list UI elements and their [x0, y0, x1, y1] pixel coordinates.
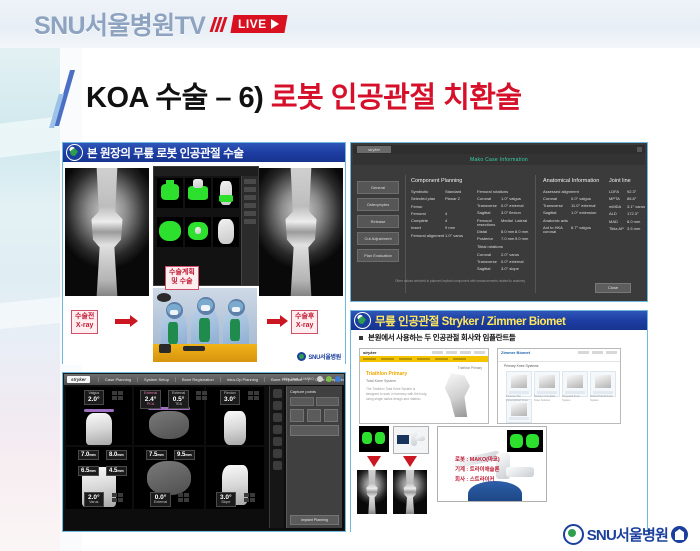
hospital-logo-icon-2 — [354, 312, 371, 329]
tab-bone-registration[interactable]: Bone Registration — [175, 377, 220, 382]
arrow-postop-body — [267, 319, 281, 324]
tibial-rotations-heading: Tibial rotations — [477, 245, 503, 249]
tab-system-setup[interactable]: System Setup — [137, 377, 175, 382]
joint-line-heading: Joint line — [609, 179, 645, 185]
planning-view-2 — [185, 178, 211, 208]
thickness-tibia-lateral: 9.5mm — [174, 450, 195, 460]
layers-icon[interactable] — [273, 437, 282, 446]
zimmer-thumb-label-3: Vanguard Knee System — [562, 395, 586, 403]
caption-robot: 로봇 : MAKO(마코) — [455, 456, 500, 464]
mako-nav-osteophytes[interactable]: Osteophytes — [357, 198, 399, 211]
measure-external-stepper[interactable] — [196, 391, 207, 400]
arrow-down-1 — [367, 456, 381, 467]
thickness-posterior-medial: 6.5mm — [78, 466, 99, 476]
arrow-postop-head — [280, 315, 288, 327]
measure-external-tea[interactable]: External 0.5° TEA — [168, 390, 189, 409]
mako-window-title: Mako Case Information — [470, 157, 528, 163]
tool-square-3[interactable] — [324, 409, 338, 422]
page-title: KOA 수술 – 6) 로봇 인공관절 치환술 — [86, 74, 522, 116]
zimmer-thumb-vanguard[interactable] — [562, 371, 588, 397]
rotate-icon[interactable] — [273, 425, 282, 434]
measure-external-bottom[interactable]: 0.0° External — [150, 492, 171, 507]
panel-surgery-photos: 본 원장의 무릎 로봇 인공관절 수술 — [62, 142, 346, 364]
broadcast-header: SNU서울병원TV LIVE — [0, 0, 700, 48]
live-badge: LIVE — [231, 15, 288, 33]
contrast-icon[interactable] — [273, 401, 282, 410]
anatomical-information-column: Anatomical Information Assessed alignmen… — [543, 179, 605, 237]
patient-status-text: Mrs Jane. A MAKO — [284, 377, 314, 381]
capture-button[interactable] — [316, 397, 340, 406]
zimmer-section-heading: Primary Knee Systems — [504, 364, 538, 369]
caption-company: 회사 : 스트라이커 — [455, 476, 495, 484]
thickness-distal-lateral: 8.0mm — [106, 450, 127, 460]
rotations-column: . Femoral rotations Coronal1.0° valgus T… — [477, 179, 533, 274]
panel-d-banner-label: 무릎 인공관절 Stryker / Zimmer Biomet — [375, 313, 565, 329]
stryker-logo: stryker — [357, 146, 391, 153]
footer-logo-text: SNU서울병원 — [587, 524, 668, 545]
measure-varus-stepper[interactable] — [112, 493, 123, 502]
femoral-rotations-heading: Femoral rotations — [477, 190, 508, 194]
planning-view-4 — [157, 217, 183, 247]
joint-line-column: Joint line LDFA92.3° MPTA86.8° mMDA3.1° … — [609, 179, 645, 234]
capture-points-heading: Capture points — [290, 389, 339, 394]
planning-side-tools[interactable] — [241, 176, 258, 285]
tab-case-planning[interactable]: Case Planning — [98, 377, 137, 382]
panel-a-body: 수술전 X-ray 수술후 X-ray 수술계획 및 수술 SNU서울병원 — [63, 162, 345, 365]
anatomical-information-heading: Anatomical Information — [543, 179, 605, 185]
settings-icon[interactable] — [335, 376, 341, 382]
zimmer-subnav[interactable] — [498, 356, 620, 362]
stryker-product-heading: Triathlon Primary — [366, 371, 407, 377]
measure-flexion[interactable]: Flexion 3.0° — [220, 390, 240, 405]
zimmer-thumb-nexgen[interactable] — [534, 371, 560, 397]
footer-hospital-logo: SNU서울병원 — [563, 524, 688, 545]
zimmer-thumb-label-4: Oxford Partial Knee System — [590, 395, 614, 403]
label-surgical-plan: 수술계획 및 수술 — [165, 266, 199, 290]
robot-thumbnail-1 — [393, 426, 429, 454]
stryker-yellow-nav[interactable] — [360, 356, 488, 362]
tool-squares[interactable] — [290, 409, 339, 422]
play-triangle-icon — [271, 19, 279, 29]
implant-planning-button[interactable]: Implant Planning — [290, 515, 339, 525]
logo-circle-icon — [563, 524, 584, 545]
planning-view-6 — [213, 217, 239, 247]
zimmer-site-nav[interactable] — [578, 351, 617, 354]
triathlon-implant-image — [440, 373, 474, 417]
result-xray-2 — [393, 470, 427, 514]
planning-view-1 — [157, 178, 183, 208]
stryker-status-group: Mrs Jane. A MAKO — [284, 376, 341, 382]
arrow-preop-body — [115, 319, 131, 324]
page-title-black: KOA 수술 – 6) — [86, 82, 271, 114]
divider-1 — [405, 175, 406, 293]
implant-icon[interactable] — [273, 449, 282, 458]
thickness-tibia-medial: 7.5mm — [146, 450, 167, 460]
bullet-icon — [359, 336, 363, 340]
zimmer-website-screenshot: Zimmer Biomet Primary Knee Systems Perso… — [497, 348, 621, 424]
measure-valgus-stepper[interactable] — [112, 391, 123, 400]
panel-mako-case-information: stryker Mako Case Information General Os… — [350, 142, 648, 302]
planning-view-5 — [185, 217, 211, 247]
component-planning-heading: Component Planning — [411, 179, 471, 185]
page-title-red: 로봇 인공관절 치환술 — [271, 82, 522, 114]
stryker-logo: stryker — [67, 376, 90, 383]
chart-icon[interactable] — [273, 461, 282, 470]
header-brand-group: SNU서울병원TV LIVE — [34, 6, 286, 42]
stryker-toolbar: stryker Case Planning System Setup Bone … — [64, 374, 344, 385]
stryker-site-nav[interactable] — [432, 351, 485, 354]
pan-icon[interactable] — [273, 413, 282, 422]
panel-a-watermark: SNU서울병원 — [297, 352, 341, 361]
mako-nav-cut-adjustment[interactable]: Cut Adjustment — [357, 232, 399, 245]
panel-a-banner-label: 본 원장의 무릎 로봇 인공관절 수술 — [87, 145, 244, 161]
stryker-side-panel: Capture points Implant Planning — [286, 386, 342, 528]
tab-intra-op-planning[interactable]: Intra-Op Planning — [220, 377, 264, 382]
measure-flexion-stepper[interactable] — [248, 391, 259, 400]
stryker-tool-rail[interactable] — [269, 386, 284, 528]
capture-row[interactable] — [290, 397, 339, 406]
mako-close-button[interactable]: Close — [595, 283, 631, 293]
mako-nav-release[interactable]: Release — [357, 215, 399, 228]
result-xray-1 — [357, 470, 387, 514]
zimmer-site-logo: Zimmer Biomet — [501, 350, 530, 355]
measure-slope-stepper[interactable] — [244, 493, 255, 502]
zimmer-thumb-label-2: NexGen Complete Knee Solution — [534, 395, 558, 403]
navigation-screen-right — [507, 430, 543, 452]
preop-xray-image — [65, 168, 149, 296]
mako-dialog: stryker Mako Case Information General Os… — [353, 145, 645, 299]
mako-titlebar: stryker — [353, 145, 645, 154]
mako-nav-general[interactable]: General — [357, 181, 399, 194]
watermark-label: SNU서울병원 — [308, 352, 341, 361]
zimmer-thumb-persona[interactable] — [506, 371, 532, 397]
panel-a-banner: 본 원장의 무릎 로봇 인공관절 수술 — [63, 143, 345, 162]
label-preop-xray: 수술전 X-ray — [71, 310, 98, 334]
label-postop-xray: 수술후 X-ray — [291, 310, 318, 334]
panel-stryker-navigation: stryker Case Planning System Setup Bone … — [62, 372, 346, 532]
zimmer-thumb-oxford[interactable] — [590, 371, 616, 397]
panel-d-subtitle: 본원에서 사용하는 두 인공관절 회사와 임플란트들 — [368, 332, 516, 343]
femoral-resections-heading: Femoral resections — [477, 219, 501, 227]
stryker-product-sub: Total Knee System — [366, 379, 396, 384]
slide-title-row: KOA 수술 – 6) 로봇 인공관절 치환술 — [58, 72, 678, 124]
stryker-website-screenshot: stryker Triathlon Primary Total Knee Sys… — [359, 348, 489, 424]
tool-square-1[interactable] — [290, 409, 304, 422]
tool-square-2[interactable] — [307, 409, 321, 422]
operating-room-photo — [153, 288, 257, 362]
planning-toolbar — [154, 167, 258, 176]
measure-valgus[interactable]: Valgus 2.0° — [84, 390, 104, 405]
thickness-distal-medial: 7.0mm — [78, 450, 99, 460]
logo-shield-icon — [671, 526, 688, 543]
planning-view-3 — [213, 178, 239, 208]
panel-d-body: 본원에서 사용하는 두 인공관절 회사와 임플란트들 stryker Triat… — [351, 330, 647, 533]
stryker-site-logo: stryker — [363, 350, 376, 355]
slash-decoration-icon — [210, 17, 228, 32]
stryker-product-body: The Triathlon Total Knee System is desig… — [366, 387, 428, 401]
panel-d-banner: 무릎 인공관절 Stryker / Zimmer Biomet — [351, 311, 647, 330]
measure-external-bottom-stepper[interactable] — [178, 493, 189, 502]
panel-implant-companies: 무릎 인공관절 Stryker / Zimmer Biomet 본원에서 사용하… — [350, 310, 648, 532]
channel-title: SNU서울병원TV — [34, 6, 205, 42]
mako-nav-plan-evaluation[interactable]: Plan Evaluation — [357, 249, 399, 262]
mako-disclaimer: Other values selected in planned implant… — [395, 279, 525, 283]
zimmer-thumb-label-1: Persona The Personalized Knee — [506, 395, 530, 403]
watermark-logo-icon — [297, 352, 306, 361]
presentation-slide: SNU서울병원TV LIVE KOA 수술 – 6) 로봇 인공관절 치환술 본… — [0, 0, 700, 551]
femur-select[interactable] — [290, 397, 314, 406]
stryker-app: stryker Case Planning System Setup Bone … — [64, 374, 344, 530]
arrow-preop-head — [130, 315, 138, 327]
measure-external-pca[interactable]: External 2.4° PCA — [140, 390, 161, 409]
navigation-screen-left — [359, 426, 389, 452]
stryker-breadcrumb: Triathlon Primary — [458, 366, 482, 371]
tracker-ok-icon — [326, 376, 332, 382]
caption-machine: 기계 : 트라이애슬론 — [455, 466, 499, 474]
measure-slope[interactable]: 3.0° Slope — [216, 492, 236, 507]
component-planning-column: Component Planning SymbioticStandard Sel… — [411, 179, 471, 241]
thickness-posterior-lateral: 4.5mm — [106, 466, 127, 476]
postop-xray-image — [259, 168, 343, 296]
live-label: LIVE — [238, 17, 267, 31]
zoom-icon[interactable] — [273, 389, 282, 398]
arrow-down-2 — [403, 456, 417, 467]
decorative-left-gradient — [0, 0, 60, 551]
status-indicator-icon — [317, 376, 323, 382]
mako-window-title-bar: Mako Case Information — [353, 154, 645, 165]
hospital-logo-icon — [66, 144, 83, 161]
mako-nav-list[interactable]: General Osteophytes Release Cut Adjustme… — [357, 181, 399, 266]
status-field — [290, 425, 339, 436]
close-icon[interactable] — [637, 147, 642, 152]
divider-2 — [535, 175, 536, 293]
measure-varus[interactable]: 2.0° Varus — [84, 492, 104, 507]
